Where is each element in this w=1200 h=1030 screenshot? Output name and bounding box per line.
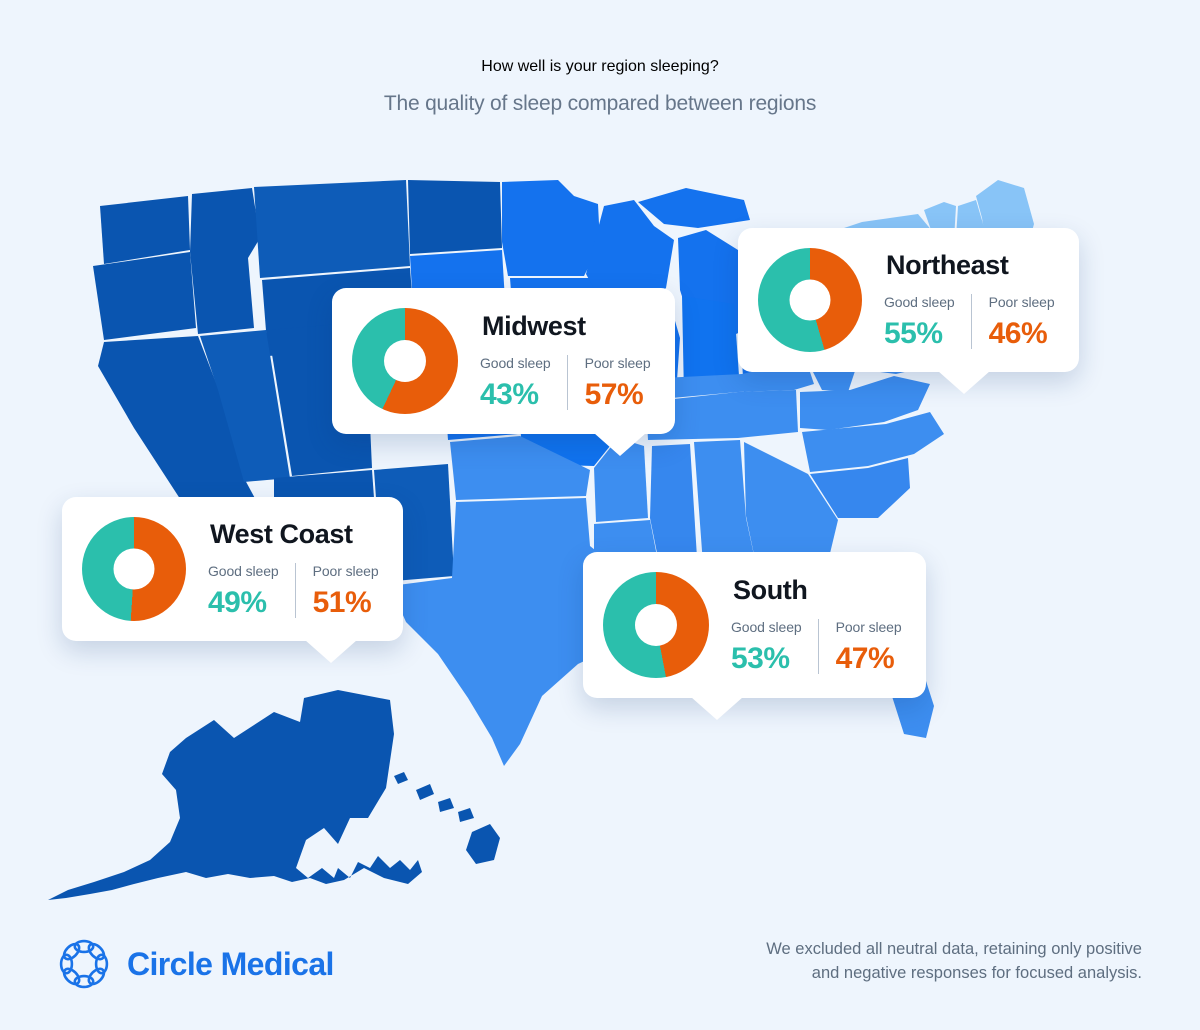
stat-poor-sleep: Poor sleep 46%	[972, 294, 1055, 349]
stat-label-poor: Poor sleep	[836, 619, 902, 635]
region-name: West Coast	[208, 521, 379, 548]
stat-value-good: 55%	[884, 319, 955, 349]
stat-value-good: 43%	[480, 380, 551, 410]
stat-label-poor: Poor sleep	[585, 355, 651, 371]
stat-value-poor: 57%	[585, 380, 651, 410]
brand-logo[interactable]: Circle Medical	[58, 938, 334, 990]
stat-poor-sleep: Poor sleep 51%	[296, 563, 379, 618]
circle-medical-logo-icon	[58, 938, 110, 990]
region-name: Midwest	[480, 313, 651, 340]
footer-disclaimer: We excluded all neutral data, retaining …	[712, 938, 1142, 986]
stat-good-sleep: Good sleep 55%	[884, 294, 971, 349]
footer-note-line-2: and negative responses for focused analy…	[712, 962, 1142, 986]
footer-note-line-1: We excluded all neutral data, retaining …	[712, 938, 1142, 962]
stat-value-good: 49%	[208, 588, 279, 618]
donut-chart-south	[603, 572, 709, 678]
stat-good-sleep: Good sleep 53%	[731, 619, 818, 674]
donut-hole	[790, 280, 831, 321]
page-subtitle: The quality of sleep compared between re…	[0, 92, 1200, 116]
donut-chart-west-coast	[82, 517, 186, 621]
region-card-south[interactable]: South Good sleep 53% Poor sleep 47%	[583, 552, 926, 698]
header: How well is your region sleeping? The qu…	[0, 58, 1200, 116]
region-card-west-coast[interactable]: West Coast Good sleep 49% Poor sleep 51%	[62, 497, 403, 641]
card-pointer-tail	[305, 640, 357, 663]
stats-row: Good sleep 55% Poor sleep 46%	[884, 294, 1055, 349]
card-pointer-tail	[691, 697, 743, 720]
stat-value-poor: 51%	[313, 588, 379, 618]
stat-label-good: Good sleep	[884, 294, 955, 310]
donut-hole	[635, 604, 677, 646]
card-body: South Good sleep 53% Poor sleep 47%	[731, 577, 902, 674]
region-card-northeast[interactable]: Northeast Good sleep 55% Poor sleep 46%	[738, 228, 1079, 372]
stat-label-good: Good sleep	[731, 619, 802, 635]
stat-poor-sleep: Poor sleep 47%	[819, 619, 902, 674]
donut-chart-northeast	[758, 248, 862, 352]
stat-label-poor: Poor sleep	[313, 563, 379, 579]
stat-label-good: Good sleep	[208, 563, 279, 579]
stat-good-sleep: Good sleep 43%	[480, 355, 567, 410]
card-body: Midwest Good sleep 43% Poor sleep 57%	[480, 313, 651, 410]
donut-hole	[384, 340, 426, 382]
region-name: Northeast	[884, 252, 1055, 279]
stats-row: Good sleep 43% Poor sleep 57%	[480, 355, 651, 410]
card-pointer-tail	[938, 371, 990, 394]
card-body: Northeast Good sleep 55% Poor sleep 46%	[884, 252, 1055, 349]
card-pointer-tail	[594, 433, 646, 456]
region-card-midwest[interactable]: Midwest Good sleep 43% Poor sleep 57%	[332, 288, 675, 434]
donut-hole	[114, 549, 155, 590]
stats-row: Good sleep 49% Poor sleep 51%	[208, 563, 379, 618]
donut-chart-midwest	[352, 308, 458, 414]
stat-label-poor: Poor sleep	[989, 294, 1055, 310]
stat-good-sleep: Good sleep 49%	[208, 563, 295, 618]
stat-poor-sleep: Poor sleep 57%	[568, 355, 651, 410]
stat-value-poor: 47%	[836, 644, 902, 674]
stat-value-poor: 46%	[989, 319, 1055, 349]
region-name: South	[731, 577, 902, 604]
stat-label-good: Good sleep	[480, 355, 551, 371]
card-body: West Coast Good sleep 49% Poor sleep 51%	[208, 521, 379, 618]
page-title: How well is your region sleeping?	[0, 58, 1200, 76]
brand-name: Circle Medical	[127, 946, 334, 983]
stats-row: Good sleep 53% Poor sleep 47%	[731, 619, 902, 674]
stat-value-good: 53%	[731, 644, 802, 674]
